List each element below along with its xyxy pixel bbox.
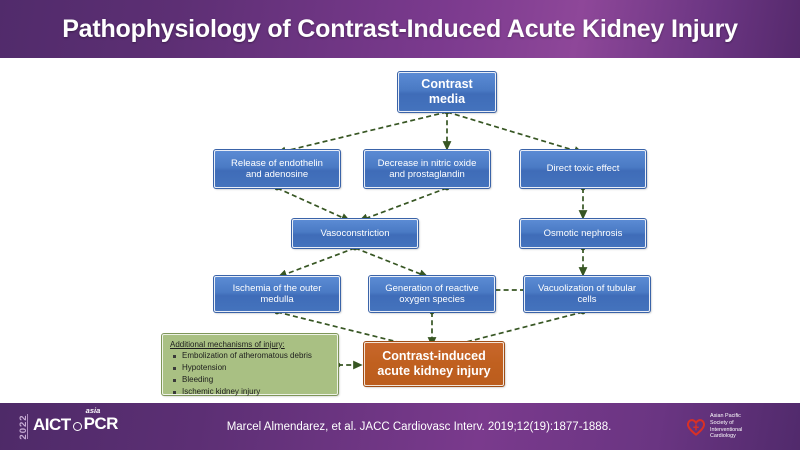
heart-icon bbox=[686, 417, 706, 437]
node-vasoconstriction-label: Vasoconstriction bbox=[321, 228, 390, 239]
logo-divider bbox=[27, 414, 28, 439]
node-contrast-media[interactable]: Contrast media bbox=[398, 72, 496, 112]
node-vacuolization-tubular-cells[interactable]: Vacuolization of tubular cells bbox=[524, 276, 650, 312]
node-direct-toxic-effect-label: Direct toxic effect bbox=[547, 163, 620, 174]
logo-wordmark: AICT asia PCR bbox=[33, 415, 118, 433]
aict-asiapcr-logo: 2022 AICT asia PCR bbox=[0, 403, 142, 450]
additional-mechanisms-heading: Additional mechanisms of injury: bbox=[170, 340, 331, 349]
citation-text: Marcel Almendarez, et al. JACC Cardiovas… bbox=[142, 421, 686, 433]
node-ischemia-line2: medulla bbox=[233, 294, 322, 305]
node-ischemia-outer-medulla[interactable]: Ischemia of the outer medulla bbox=[214, 276, 340, 312]
logo-asia-text: asia bbox=[86, 407, 101, 415]
node-vacuolization-line1: Vacuolization of tubular bbox=[538, 283, 636, 294]
logo-pcr-wrap: asia PCR bbox=[84, 415, 118, 433]
logo-pcr-text: PCR bbox=[84, 414, 118, 433]
node-endothelin-line1: Release of endothelin bbox=[231, 158, 323, 169]
flowchart-canvas: Contrast media Release of endothelin and… bbox=[0, 58, 800, 403]
list-item: Bleeding bbox=[169, 375, 331, 384]
node-vasoconstriction[interactable]: Vasoconstriction bbox=[292, 219, 418, 248]
node-osmotic-nephrosis-label: Osmotic nephrosis bbox=[544, 228, 623, 239]
slide-footer: 2022 AICT asia PCR Marcel Almendarez, et… bbox=[0, 403, 800, 450]
slide: Pathophysiology of Contrast-Induced Acut… bbox=[0, 0, 800, 450]
apsic-line1: Asian Pacific bbox=[710, 413, 742, 420]
node-osmotic-nephrosis[interactable]: Osmotic nephrosis bbox=[520, 219, 646, 248]
slide-title-bar: Pathophysiology of Contrast-Induced Acut… bbox=[0, 0, 800, 58]
logo-aict-text: AICT bbox=[33, 416, 71, 433]
node-additional-mechanisms[interactable]: Additional mechanisms of injury: Emboliz… bbox=[162, 334, 338, 395]
node-ros-line1: Generation of reactive bbox=[385, 283, 478, 294]
node-nitric-oxide-line1: Decrease in nitric oxide bbox=[378, 158, 477, 169]
node-nitric-oxide[interactable]: Decrease in nitric oxide and prostagland… bbox=[364, 150, 490, 188]
node-contrast-media-line1: Contrast bbox=[421, 77, 472, 92]
apsic-line2: Society of bbox=[710, 420, 742, 427]
apsic-line3: Interventional bbox=[710, 427, 742, 434]
node-direct-toxic-effect[interactable]: Direct toxic effect bbox=[520, 150, 646, 188]
node-contrast-media-line2: media bbox=[421, 92, 472, 107]
list-item: Embolization of atheromatous debris bbox=[169, 351, 331, 360]
apsic-line4: Cardiology bbox=[710, 433, 742, 440]
node-ciaki-line1: Contrast-induced bbox=[377, 349, 490, 364]
node-ischemia-line1: Ischemia of the outer bbox=[233, 283, 322, 294]
node-reactive-oxygen-species[interactable]: Generation of reactive oxygen species bbox=[369, 276, 495, 312]
list-item: Ischemic kidney injury bbox=[169, 387, 331, 396]
page-title: Pathophysiology of Contrast-Induced Acut… bbox=[62, 15, 738, 44]
node-endothelin-line2: and adenosine bbox=[231, 169, 323, 180]
apsic-logo-text: Asian Pacific Society of Interventional … bbox=[710, 413, 742, 441]
node-contrast-induced-aki[interactable]: Contrast-induced acute kidney injury bbox=[364, 342, 504, 386]
additional-mechanisms-list: Embolization of atheromatous debris Hypo… bbox=[169, 351, 331, 396]
node-vacuolization-line2: cells bbox=[538, 294, 636, 305]
logo-dot-icon bbox=[73, 422, 82, 431]
apsic-logo: Asian Pacific Society of Interventional … bbox=[686, 403, 800, 450]
node-endothelin[interactable]: Release of endothelin and adenosine bbox=[214, 150, 340, 188]
list-item: Hypotension bbox=[169, 363, 331, 372]
node-ciaki-line2: acute kidney injury bbox=[377, 364, 490, 379]
node-ros-line2: oxygen species bbox=[385, 294, 478, 305]
node-nitric-oxide-line2: and prostaglandin bbox=[378, 169, 477, 180]
